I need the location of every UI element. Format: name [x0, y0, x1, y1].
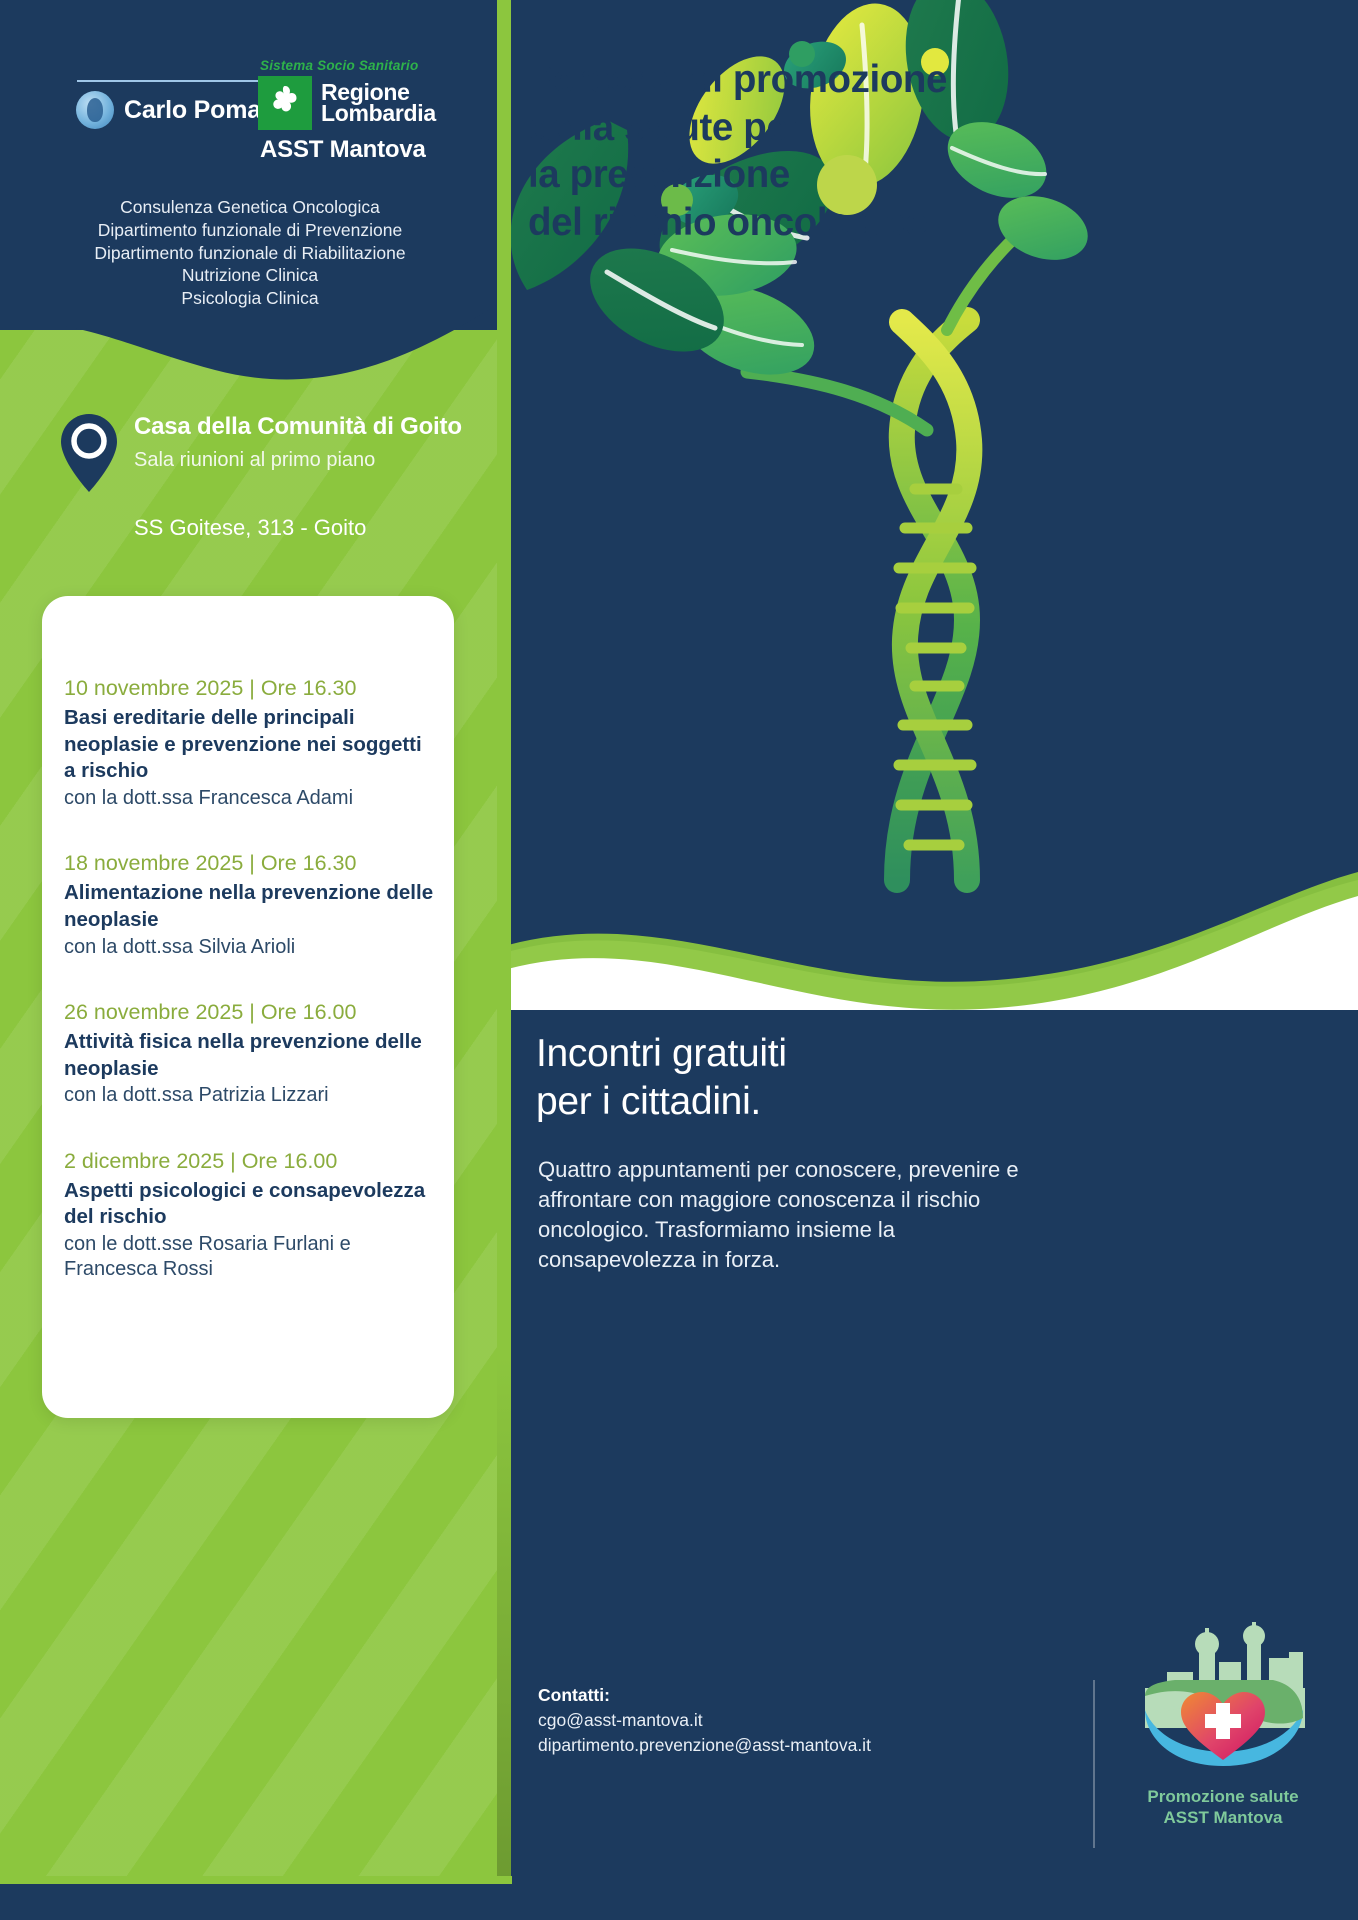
cta-headline-line-1: Incontri gratuiti — [536, 1030, 1136, 1078]
event-speaker: con la dott.ssa Patrizia Lizzari — [64, 1083, 436, 1108]
regione-line-2: Lombardia — [321, 103, 436, 124]
carlo-poma-logo: Carlo Poma — [76, 91, 261, 129]
event-date: 26 novembre 2025 | Ore 16.00 — [64, 998, 436, 1027]
footer-logo-divider — [1093, 1680, 1095, 1848]
promo-logo-line-2: ASST Mantova — [1118, 1808, 1328, 1829]
event-title: Attività fisica nella prevenzione delle … — [64, 1029, 436, 1082]
department-item: Nutrizione Clinica — [0, 264, 500, 287]
title-line-4: del rischio oncologico — [528, 199, 1138, 247]
title-line-1: Percorsi di promozione — [528, 56, 1138, 104]
event-date: 18 novembre 2025 | Ore 16.30 — [64, 849, 436, 878]
bottom-green-accent — [0, 1876, 512, 1884]
event-item: 10 novembre 2025 | Ore 16.30 Basi eredit… — [64, 674, 436, 811]
events-card: 10 novembre 2025 | Ore 16.30 Basi eredit… — [42, 596, 454, 1418]
event-title: Basi ereditarie delle principali neoplas… — [64, 705, 436, 785]
promozione-salute-label: Promozione salute ASST Mantova — [1118, 1787, 1328, 1828]
carlo-poma-emblem-icon — [76, 91, 114, 129]
bottom-navy-strip — [0, 1878, 1358, 1920]
department-item: Dipartimento funzionale di Riabilitazion… — [0, 242, 500, 265]
cta-headline: Incontri gratuiti per i cittadini. — [536, 1030, 1136, 1125]
contacts-block: Contatti: cgo@asst-mantova.it dipartimen… — [538, 1683, 958, 1758]
event-item: 2 dicembre 2025 | Ore 16.00 Aspetti psic… — [64, 1147, 436, 1283]
event-speaker: con la dott.ssa Francesca Adami — [64, 786, 436, 811]
title-line-2: della salute per — [528, 104, 1138, 152]
regione-lombardia-logo: Sistema Socio Sanitario Regione Lombardi… — [258, 58, 508, 164]
carlo-poma-label: Carlo Poma — [124, 96, 261, 125]
event-title: Alimentazione nella prevenzione delle ne… — [64, 880, 436, 933]
header-logos: Carlo Poma Sistema Socio Sanitario Regio… — [60, 58, 490, 178]
promozione-salute-emblem-icon — [1123, 1618, 1323, 1778]
event-speaker: con le dott.sse Rosaria Furlani e France… — [64, 1232, 436, 1283]
asst-mantova-label: ASST Mantova — [260, 136, 508, 164]
events-list: 10 novembre 2025 | Ore 16.30 Basi eredit… — [64, 674, 436, 1283]
venue-address: SS Goitese, 313 - Goito — [134, 515, 366, 541]
event-date: 2 dicembre 2025 | Ore 16.00 — [64, 1147, 436, 1176]
department-item: Psicologia Clinica — [0, 287, 500, 310]
location-pin-icon — [58, 412, 120, 494]
event-item: 18 novembre 2025 | Ore 16.30 Alimentazio… — [64, 849, 436, 960]
department-list: Consulenza Genetica Oncologica Dipartime… — [0, 196, 500, 310]
cta-headline-line-2: per i cittadini. — [536, 1078, 1136, 1126]
contact-email-secondary[interactable]: dipartimento.prevenzione@asst-mantova.it — [538, 1733, 958, 1758]
venue-name: Casa della Comunità di Goito — [134, 413, 462, 441]
department-item: Dipartimento funzionale di Prevenzione — [0, 219, 500, 242]
contact-email-primary[interactable]: cgo@asst-mantova.it — [538, 1708, 958, 1733]
department-item: Consulenza Genetica Oncologica — [0, 196, 500, 219]
event-speaker: con la dott.ssa Silvia Arioli — [64, 935, 436, 960]
cta-body-text: Quattro appuntamenti per conoscere, prev… — [538, 1155, 1058, 1276]
poster-root: Carlo Poma Sistema Socio Sanitario Regio… — [0, 0, 1358, 1920]
rosa-camuna-icon — [258, 76, 312, 130]
event-title: Aspetti psicologici e consapevolezza del… — [64, 1178, 436, 1231]
promo-logo-line-1: Promozione salute — [1118, 1787, 1328, 1808]
poster-title: Percorsi di promozione della salute per … — [528, 56, 1138, 247]
promozione-salute-logo: Promozione salute ASST Mantova — [1118, 1618, 1328, 1828]
venue-room: Sala riunioni al primo piano — [134, 449, 375, 472]
sistema-socio-sanitario-label: Sistema Socio Sanitario — [260, 58, 508, 73]
regione-lombardia-label: Regione Lombardia — [321, 82, 436, 125]
event-item: 26 novembre 2025 | Ore 16.00 Attività fi… — [64, 998, 436, 1109]
contacts-label: Contatti: — [538, 1683, 958, 1708]
title-line-3: la prevenzione — [528, 151, 1138, 199]
event-date: 10 novembre 2025 | Ore 16.30 — [64, 674, 436, 703]
